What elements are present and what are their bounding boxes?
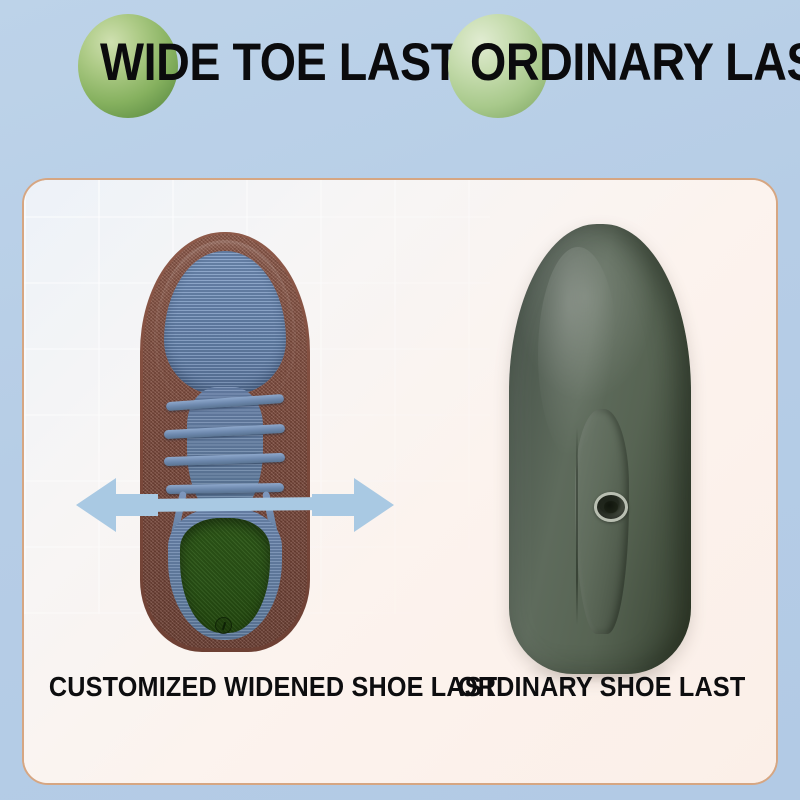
olive-shoe-last-top-view [509,224,691,674]
arrow-right-icon [312,476,394,534]
caption-text: ORDINARY SHOE LAST [458,671,745,703]
header-band: WIDE TOE LAST ORDINARY LAST [0,0,800,140]
header-column-wide-toe: WIDE TOE LAST [78,0,428,140]
insole-logo-icon [215,617,232,634]
caption-customized-widened: CUSTOMIZED WIDENED SHOE LAST [24,671,424,703]
panel-ordinary-last: ORDINARY SHOE LAST [424,180,778,785]
product-comparison-image: WIDE TOE LAST ORDINARY LAST [0,0,800,800]
shoe-upper [143,234,307,648]
shoe-last-seam [576,427,578,625]
caption-ordinary-last: ORDINARY SHOE LAST [424,671,778,703]
header-title-ordinary: ORDINARY LAST [470,16,800,110]
header-column-ordinary: ORDINARY LAST [448,0,788,140]
blue-knit-sneaker-top-view [140,232,310,652]
shoe-last-eyelet-icon [594,492,628,522]
header-title-wide-toe: WIDE TOE LAST [100,16,459,110]
panel-customized-widened: CUSTOMIZED WIDENED SHOE LAST [24,180,424,785]
comparison-card: CUSTOMIZED WIDENED SHOE LAST ORDINARY SH… [22,178,778,785]
arrow-left-icon [76,476,158,534]
shoe-last-body [509,224,691,674]
shoe-last-ridge [575,409,630,634]
